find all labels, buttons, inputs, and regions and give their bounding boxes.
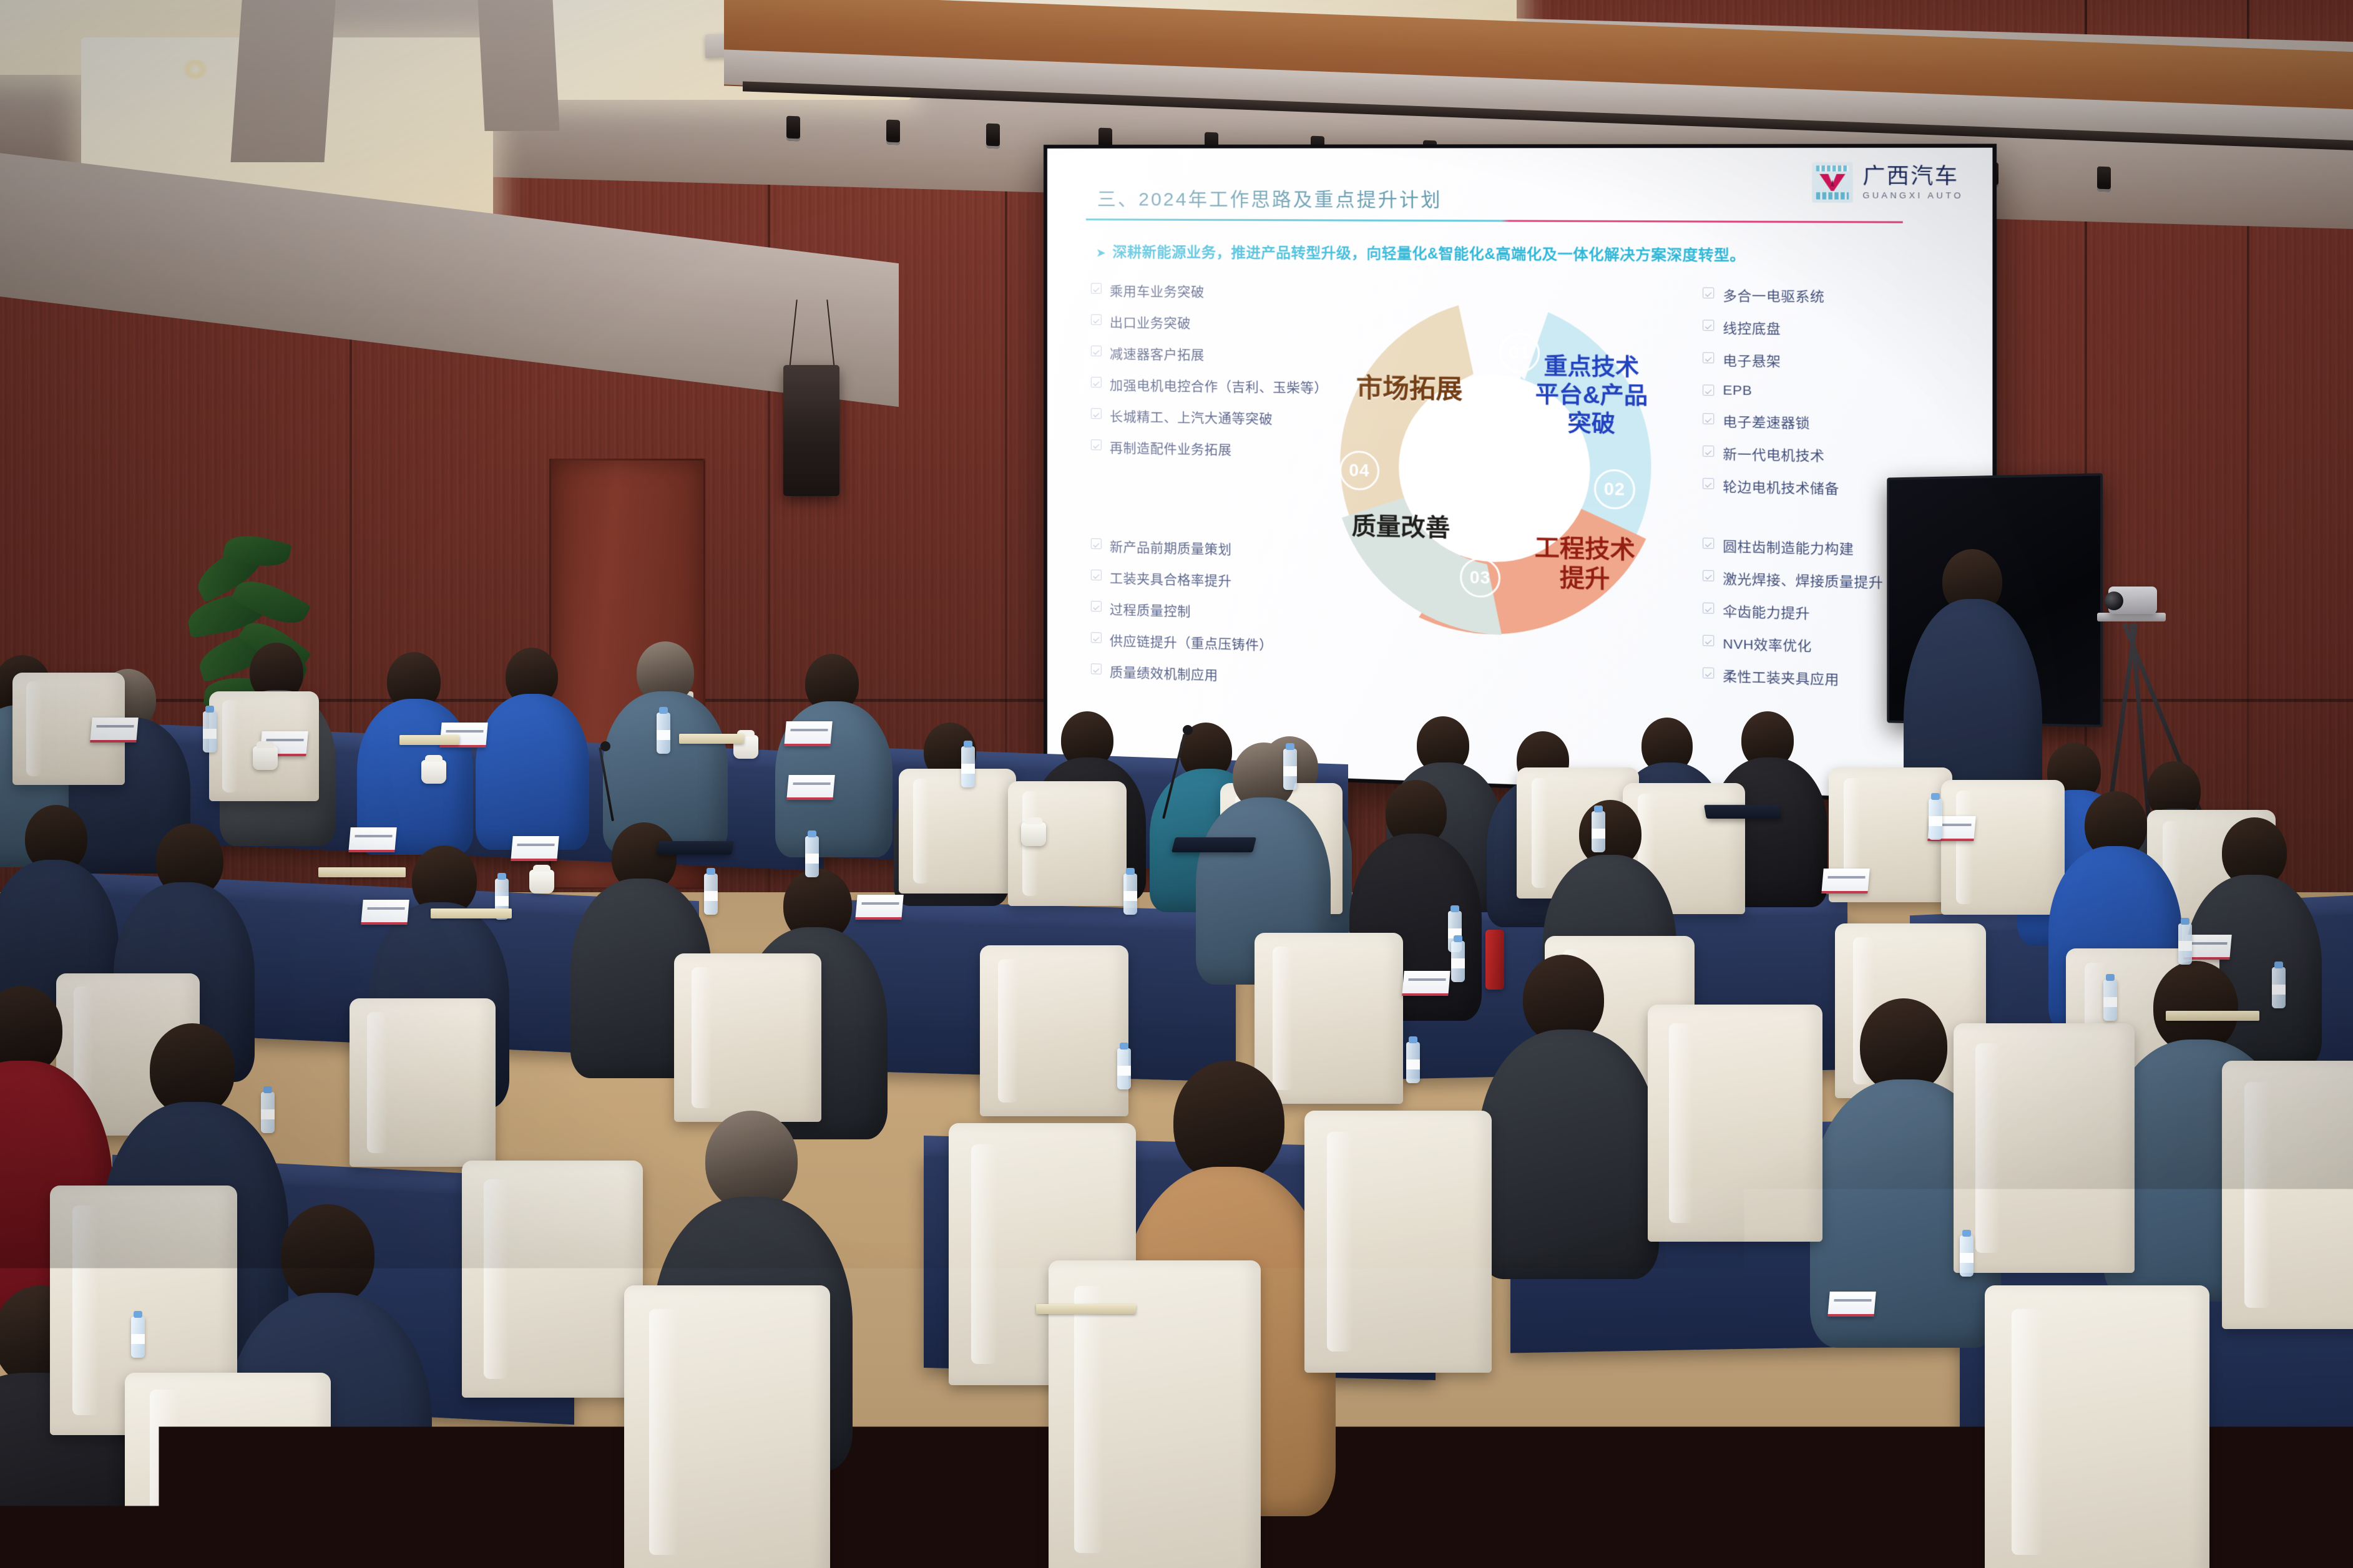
presentation-slide: 三、2024年工作思路及重点提升计划 广西汽车 GUANGXI AUTO xyxy=(1047,148,1992,802)
name-card xyxy=(784,721,832,746)
chair xyxy=(899,769,1016,894)
checkbox-icon xyxy=(1703,570,1714,582)
chair xyxy=(674,953,821,1122)
notebook xyxy=(679,734,744,744)
checkbox-icon xyxy=(1091,408,1102,419)
bullets-right-bottom: 圆柱齿制造能力构建 激光焊接、焊接质量提升 伞齿能力提升 NVH效率优化 柔性工… xyxy=(1703,536,1883,704)
checkbox-icon xyxy=(1703,413,1714,424)
logo-text-en: GUANGXI AUTO xyxy=(1862,190,1964,200)
list-item: 圆柱齿制造能力构建 xyxy=(1703,536,1883,560)
checkbox-icon xyxy=(1091,538,1102,549)
checkbox-icon xyxy=(1091,632,1102,643)
checkbox-icon xyxy=(1091,570,1102,580)
water-bottle xyxy=(1123,874,1137,915)
water-bottle xyxy=(1592,811,1605,852)
track-light-icon xyxy=(786,116,800,142)
notebook xyxy=(318,867,406,877)
checkbox-icon xyxy=(1703,667,1714,678)
chair xyxy=(462,1161,643,1398)
track-light-icon xyxy=(886,120,900,145)
water-bottle xyxy=(961,746,975,787)
checkbox-icon xyxy=(1091,663,1102,674)
segment-label-01: 市场拓展 xyxy=(1338,372,1481,406)
microphone-head-icon xyxy=(1183,725,1193,735)
water-bottle xyxy=(2178,923,2192,965)
list-item: 质量绩效机制应用 xyxy=(1091,661,1273,686)
checkbox-icon xyxy=(1703,319,1714,331)
list-item: 加强电机电控合作（吉利、玉柴等） xyxy=(1091,375,1328,397)
checkbox-icon xyxy=(1703,288,1714,299)
list-item: 线控底盘 xyxy=(1703,318,1839,338)
ceiling-beam xyxy=(476,0,559,131)
laptop[interactable] xyxy=(1172,837,1256,852)
water-bottle xyxy=(2103,980,2117,1021)
segment-number-03: 03 xyxy=(1460,557,1500,598)
bullets-right-top: 多合一电驱系统 线控底盘 电子悬架 EPB 电子差速器锁 新一代电机技术 轮边电… xyxy=(1703,285,1839,511)
list-item: 新产品前期质量策划 xyxy=(1091,537,1273,560)
camera-lens-icon xyxy=(2105,592,2123,610)
checkbox-icon xyxy=(1703,478,1714,489)
list-item: 过程质量控制 xyxy=(1091,599,1273,623)
name-card xyxy=(511,836,559,861)
notebook xyxy=(399,735,459,745)
checkbox-icon xyxy=(1703,352,1714,363)
bullets-left-bottom: 新产品前期质量策划 工装夹具合格率提升 过程质量控制 供应链提升（重点压铸件） … xyxy=(1091,537,1273,699)
segment-number-02: 02 xyxy=(1594,469,1635,510)
v-mark-icon xyxy=(1819,173,1846,192)
slide-lead-text: 深耕新能源业务，推进产品转型升级，向轻量化&智能化&高端化及一体化解决方案深度转… xyxy=(1112,244,1745,264)
projection-screen[interactable]: 三、2024年工作思路及重点提升计划 广西汽车 GUANGXI AUTO xyxy=(1044,144,1997,806)
notebook xyxy=(1036,1304,1136,1314)
laptop[interactable] xyxy=(657,841,735,855)
water-bottle xyxy=(261,1092,275,1133)
slide-title: 三、2024年工作思路及重点提升计划 xyxy=(1097,183,1442,212)
chair xyxy=(1954,1023,2135,1273)
list-item: EPB xyxy=(1703,382,1839,400)
name-card xyxy=(1821,869,1869,894)
track-light-icon xyxy=(986,124,1000,149)
list-item: 电子悬架 xyxy=(1703,350,1839,371)
tea-cup xyxy=(529,870,554,894)
ceiling-beam xyxy=(231,0,338,162)
list-item: 工装夹具合格率提升 xyxy=(1091,568,1273,591)
microphone-head-icon xyxy=(600,741,610,751)
checkbox-icon xyxy=(1091,314,1102,325)
name-card xyxy=(855,895,903,920)
name-card xyxy=(1402,971,1450,996)
water-bottle xyxy=(657,713,670,754)
ceiling-speaker xyxy=(783,365,839,496)
notebook xyxy=(431,908,512,918)
checkbox-icon xyxy=(1703,538,1714,549)
water-bottle xyxy=(1406,1042,1420,1083)
list-item: 柔性工装夹具应用 xyxy=(1703,665,1883,690)
chair xyxy=(350,998,496,1167)
checkbox-icon xyxy=(1703,446,1714,457)
list-item: 乘用车业务突破 xyxy=(1091,281,1328,302)
water-bottle xyxy=(1451,941,1465,982)
water-bottle xyxy=(1117,1048,1131,1089)
name-card xyxy=(361,900,409,925)
checkbox-icon xyxy=(1703,603,1714,614)
chair xyxy=(980,945,1128,1116)
thermos-flask xyxy=(1485,930,1504,990)
water-bottle xyxy=(1929,799,1942,840)
water-bottle xyxy=(805,836,819,877)
checkbox-icon xyxy=(1703,635,1714,646)
water-bottle xyxy=(131,1317,145,1358)
name-card xyxy=(90,718,138,743)
chair xyxy=(125,1373,331,1568)
tea-cup xyxy=(421,760,446,784)
list-item: 伞齿能力提升 xyxy=(1703,600,1883,625)
checkbox-icon xyxy=(1091,439,1102,450)
chair xyxy=(2222,1061,2353,1329)
water-bottle xyxy=(203,711,217,752)
checkbox-icon xyxy=(1091,283,1102,294)
notebook xyxy=(2166,1011,2259,1021)
company-logo: 广西汽车 GUANGXI AUTO xyxy=(1812,162,1964,203)
list-item: 出口业务突破 xyxy=(1091,313,1328,334)
checkbox-icon xyxy=(1091,377,1102,387)
list-item: 新一代电机技术 xyxy=(1703,444,1839,465)
name-card xyxy=(348,827,396,852)
chair xyxy=(1304,1111,1492,1373)
title-underline-rule xyxy=(1086,218,1903,223)
cycle-donut-chart: 市场拓展 01 重点技术 平台&产品 突破 02 工程技术 提升 03 质量改善… xyxy=(1299,275,1693,666)
water-bottle xyxy=(2272,967,2286,1008)
chair xyxy=(1255,933,1403,1104)
checkbox-icon xyxy=(1703,384,1714,396)
chair xyxy=(1648,1005,1822,1242)
conference-room-scene: 三、2024年工作思路及重点提升计划 广西汽车 GUANGXI AUTO xyxy=(0,0,2353,1568)
chair xyxy=(1941,780,2065,915)
water-bottle xyxy=(1283,749,1297,790)
camera-mount-plate xyxy=(2097,613,2166,621)
list-item: 供应链提升（重点压铸件） xyxy=(1091,630,1273,654)
list-item: 多合一电驱系统 xyxy=(1703,285,1839,306)
arrow-bullet-icon: ➤ xyxy=(1096,246,1106,260)
laptop[interactable] xyxy=(1704,805,1781,819)
segment-label-04: 质量改善 xyxy=(1326,511,1475,543)
checkbox-icon xyxy=(1091,601,1102,612)
bullets-left-top: 乘用车业务突破 出口业务突破 减速器客户拓展 加强电机电控合作（吉利、玉柴等） … xyxy=(1091,281,1328,474)
logo-text-cn: 广西汽车 xyxy=(1862,165,1964,187)
list-item: 减速器客户拓展 xyxy=(1091,344,1328,366)
downlight-icon xyxy=(181,60,210,79)
track-light-icon xyxy=(2097,167,2111,192)
guangxi-auto-logo-icon xyxy=(1812,162,1853,203)
list-item: NVH效率优化 xyxy=(1703,633,1883,657)
name-card xyxy=(786,775,834,800)
tea-cup xyxy=(1021,822,1046,846)
list-item: 电子差速器锁 xyxy=(1703,411,1839,433)
segment-label-03: 工程技术 提升 xyxy=(1505,533,1664,597)
checkbox-icon xyxy=(1091,346,1102,356)
segment-number-04: 04 xyxy=(1339,450,1379,490)
chair xyxy=(624,1285,830,1568)
name-card xyxy=(1827,1292,1876,1317)
list-item: 轮边电机技术储备 xyxy=(1703,476,1839,498)
list-item: 再制造配件业务拓展 xyxy=(1091,437,1328,460)
water-bottle xyxy=(1960,1235,1974,1277)
chair xyxy=(1985,1285,2209,1568)
tea-cup xyxy=(253,746,278,770)
list-item: 长城精工、上汽大通等突破 xyxy=(1091,406,1328,429)
water-bottle xyxy=(704,874,718,915)
segment-label-02: 重点技术 平台&产品 突破 xyxy=(1505,352,1678,439)
list-item: 激光焊接、焊接质量提升 xyxy=(1703,568,1883,592)
slide-lead-statement: ➤深耕新能源业务，推进产品转型升级，向轻量化&智能化&高端化及一体化解决方案深度… xyxy=(1096,240,1746,265)
